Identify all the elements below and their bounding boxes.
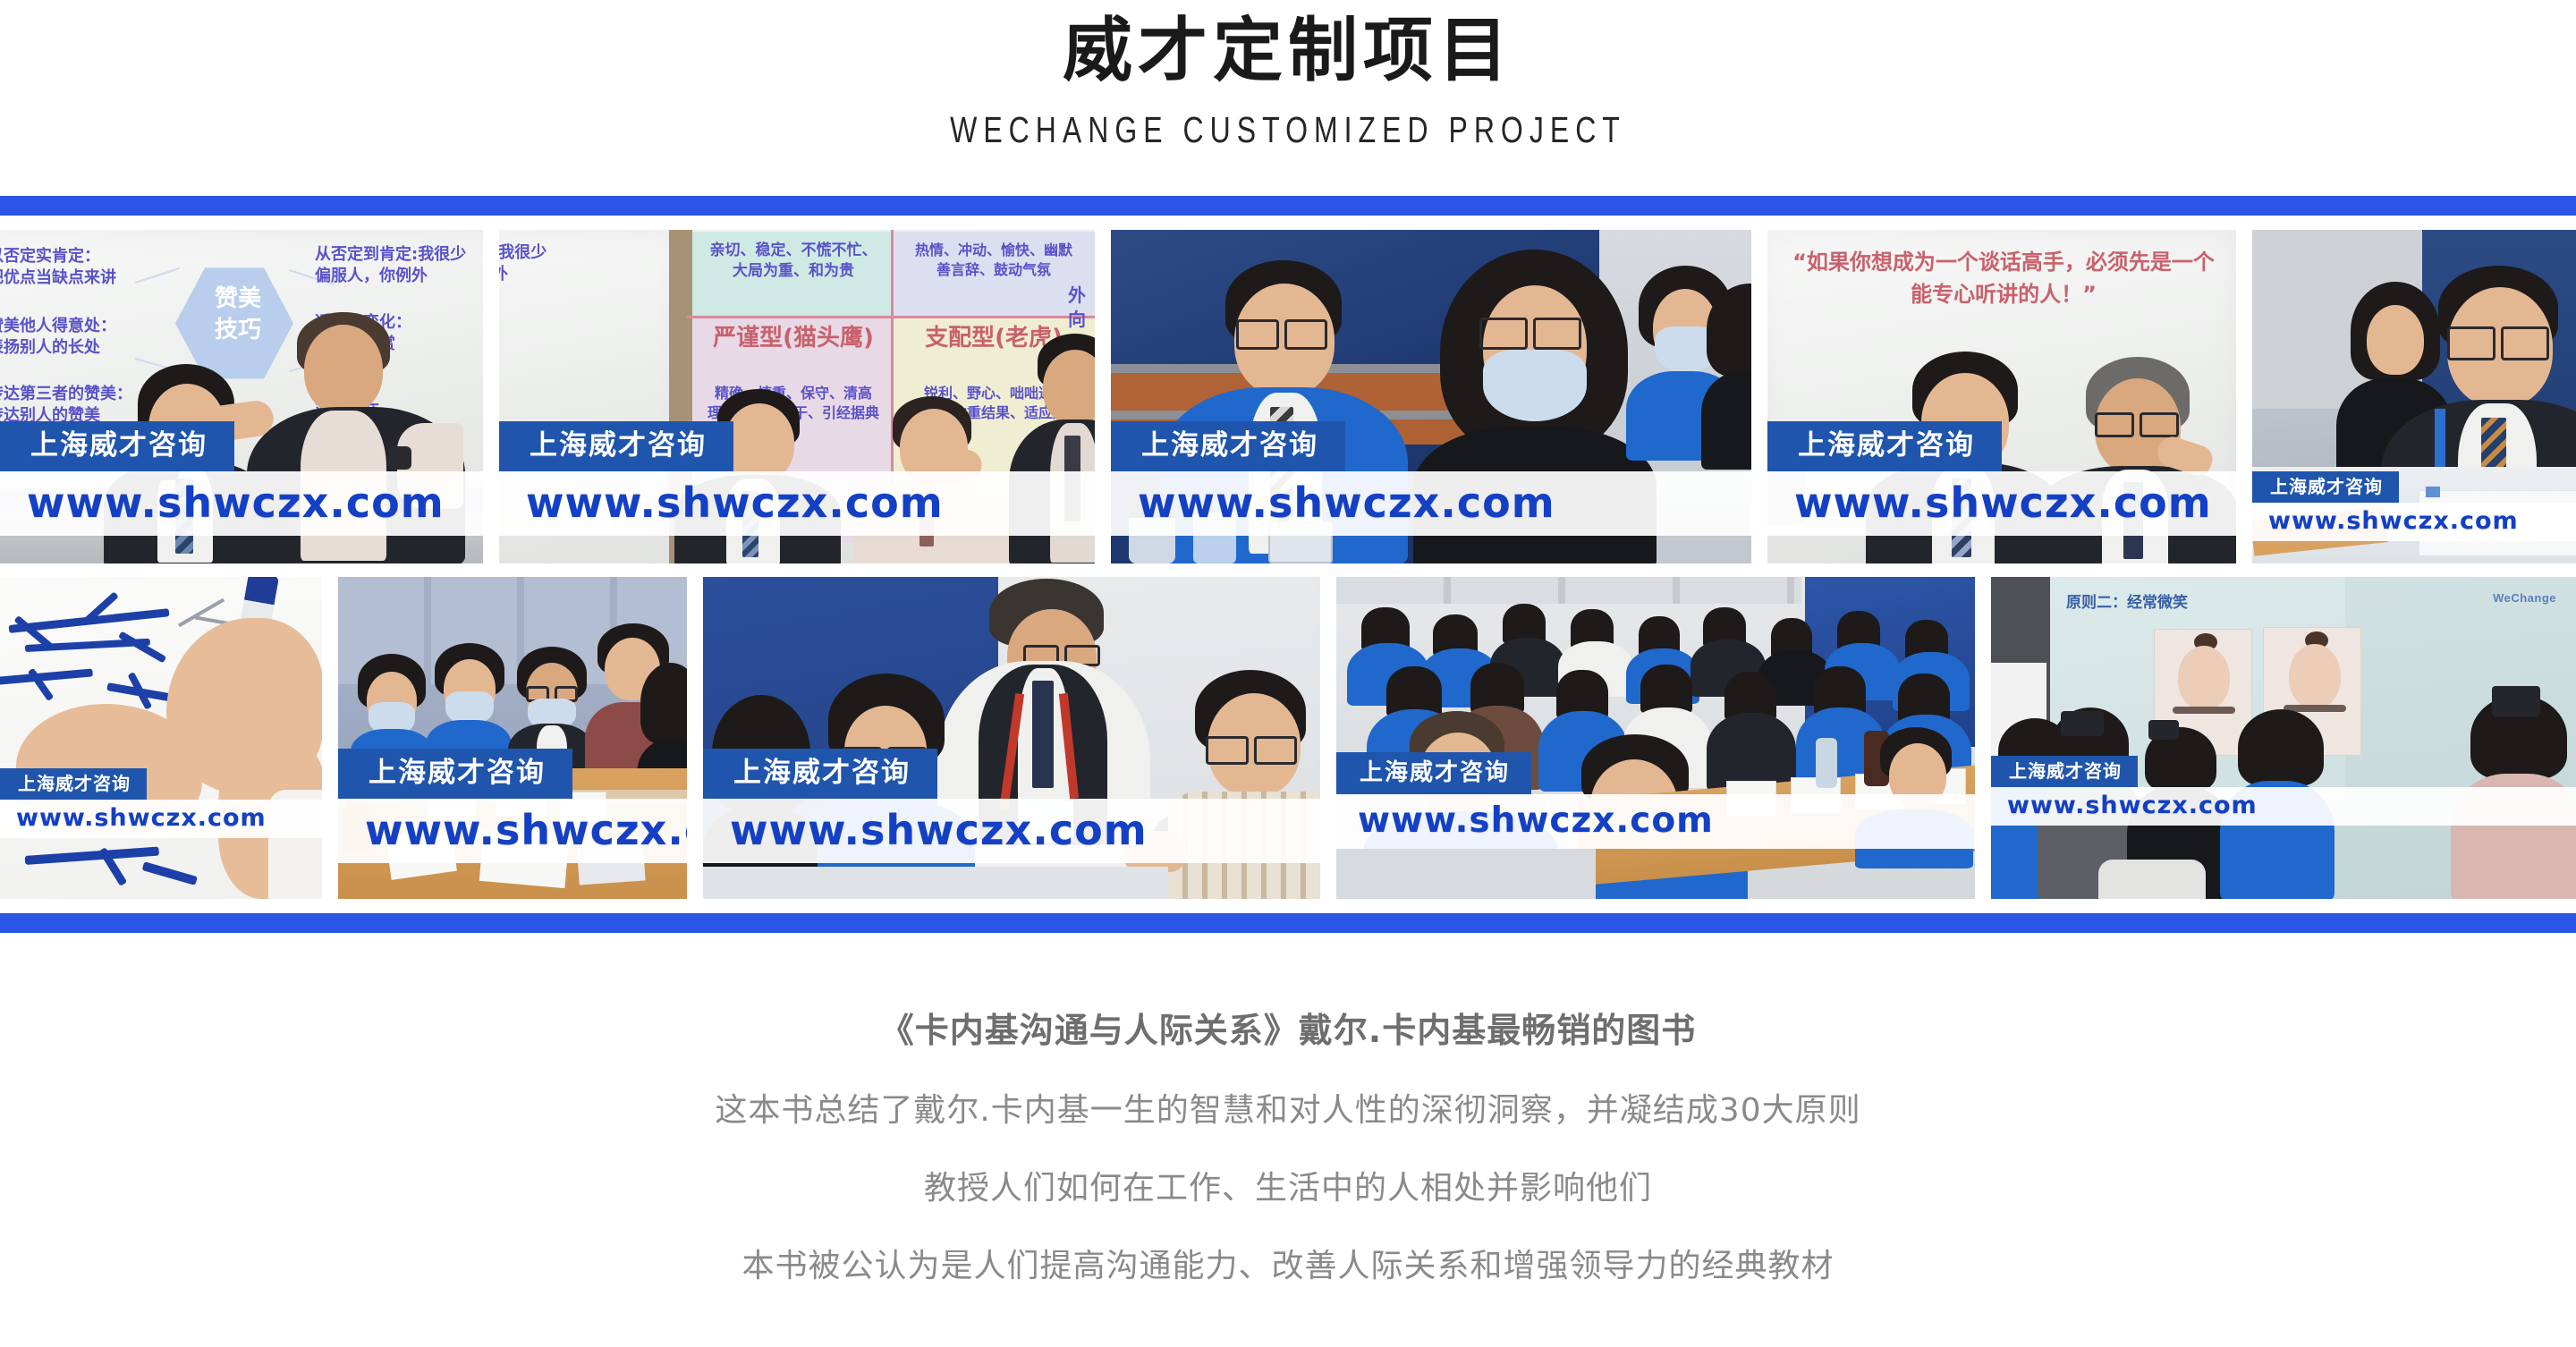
watermark: 上海威才咨询 www.shwczx.com	[1336, 752, 1975, 849]
slide-left-item-1: 以否定实肯定： 把优点当缺点来讲	[0, 246, 144, 289]
gallery-row-2: 上海威才咨询 www.shwczx.com	[0, 577, 2576, 899]
page-title: 威才定制项目	[0, 13, 2576, 90]
watermark-url: www.shwczx.com	[0, 471, 483, 536]
page-root: 威才定制项目 WECHANGE CUSTOMIZED PROJECT 赞美 技巧	[0, 0, 2576, 1347]
watermark-brand: 上海威才咨询	[2252, 471, 2399, 503]
slide-quadrant-top-right: 热情、冲动、愉快、幽默 善言辞、鼓动气氛	[896, 241, 1091, 278]
wechange-logo: WeChange	[2493, 591, 2556, 605]
watermark: 上海威才咨询 www.shwczx.com	[1767, 421, 2236, 536]
divider-bar-top	[0, 196, 2576, 216]
page-header: 威才定制项目 WECHANGE CUSTOMIZED PROJECT	[0, 0, 2576, 150]
watermark: 上海威才咨询 www.shwczx.com	[2252, 471, 2576, 541]
gallery-gap	[483, 230, 499, 563]
watermark-brand: 上海威才咨询	[0, 768, 147, 800]
gallery-gap	[1320, 577, 1336, 899]
slide-principle-title: 原则二：经常微笑	[2066, 593, 2263, 613]
slide-quadrant-label-left: 严谨型(猫头鹰)	[698, 323, 889, 353]
watermark: 上海威才咨询 www.shwczx.com	[0, 768, 322, 838]
watermark-brand: 上海威才咨询	[703, 749, 937, 799]
slide-left-fragment: 从否定到肯定:我很少 偏服人，你例外	[499, 242, 628, 285]
watermark-url: www.shwczx.com	[2252, 503, 2576, 541]
photo-gallery: 赞美 技巧 以否定实肯定： 把优点当缺点来讲 赞美他人得意处： 表扬别人的长处 …	[0, 230, 2576, 899]
watermark: 上海威才咨询 www.shwczx.com	[703, 749, 1320, 863]
gallery-gap	[1975, 577, 1991, 899]
watermark-brand: 上海威才咨询	[499, 421, 733, 471]
slide-quadrant-top-left: 亲切、稳定、不慌不忙、 大局为重、和为贵	[698, 241, 889, 281]
footer-line-2: 教授人们如何在工作、生活中的人相处并影响他们	[0, 1168, 2576, 1208]
gallery-gap	[1095, 230, 1111, 563]
gallery-gap	[1751, 230, 1767, 563]
watermark-brand: 上海威才咨询	[1111, 421, 1345, 471]
photo-participant-taking-notes[interactable]: 上海威才咨询 www.shwczx.com	[2252, 230, 2576, 563]
watermark-url: www.shwczx.com	[1111, 471, 1751, 536]
page-subtitle: WECHANGE CUSTOMIZED PROJECT	[284, 110, 2292, 150]
watermark-brand: 上海威才咨询	[338, 749, 572, 799]
watermark-url: www.shwczx.com	[499, 471, 1095, 536]
photo-audience-photographing-slide[interactable]: 原则二：经常微笑 WeChange	[1991, 577, 2576, 899]
watermark-url: www.shwczx.com	[0, 800, 322, 838]
photo-full-classroom-audience[interactable]: 上海威才咨询 www.shwczx.com	[1336, 577, 1975, 899]
watermark: 上海威才咨询 www.shwczx.com	[0, 421, 483, 536]
divider-bar-bottom	[0, 913, 2576, 933]
watermark-url: www.shwczx.com	[703, 799, 1320, 863]
photo-disc-personality-quadrant[interactable]: 从否定到肯定:我很少 偏服人，你例外 适当的变化： 细节的欣赏 亲切、稳定、不慌…	[499, 230, 1095, 563]
photo-group-discussion-table[interactable]: 上海威才咨询 www.shwczx.com	[338, 577, 687, 899]
photo-trainer-coaching-group[interactable]: 上海威才咨询 www.shwczx.com	[703, 577, 1320, 899]
gallery-gap	[687, 577, 703, 899]
watermark-brand: 上海威才咨询	[1767, 421, 2002, 471]
slide-left-fragment-2: 适当的变化： 细节的欣赏	[499, 316, 601, 359]
gallery-gap	[322, 577, 338, 899]
photo-trainer-quote-listening[interactable]: “如果你想成为一个谈话高手，必须先是一个 能专心听讲的人！”	[1767, 230, 2236, 563]
watermark-url: www.shwczx.com	[1336, 794, 1975, 849]
watermark: 上海威才咨询 www.shwczx.com	[499, 421, 1095, 536]
photo-handwriting-on-flipchart[interactable]: 上海威才咨询 www.shwczx.com	[0, 577, 322, 899]
photo-classroom-participants-listening[interactable]: 上海威才咨询 www.shwczx.com	[1111, 230, 1751, 563]
watermark-url: www.shwczx.com	[1767, 471, 2236, 536]
watermark-url: www.shwczx.com	[338, 799, 687, 863]
slide-left-item-2: 赞美他人得意处： 表扬别人的长处	[0, 316, 144, 359]
watermark: 上海威才咨询 www.shwczx.com	[338, 749, 687, 863]
photo-trainer-with-microphone[interactable]: 赞美 技巧 以否定实肯定： 把优点当缺点来讲 赞美他人得意处： 表扬别人的长处 …	[0, 230, 483, 563]
slide-right-item-1: 从否定到肯定:我很少 偏服人，你例外	[315, 244, 483, 287]
watermark-brand: 上海威才咨询	[1336, 752, 1531, 794]
watermark-brand: 上海威才咨询	[1991, 756, 2138, 787]
footer-text-block: 《卡内基沟通与人际关系》戴尔.卡内基最畅销的图书 这本书总结了戴尔.卡内基一生的…	[0, 933, 2576, 1286]
watermark: 上海威才咨询 www.shwczx.com	[1111, 421, 1751, 536]
watermark-brand: 上海威才咨询	[0, 421, 234, 471]
watermark-url: www.shwczx.com	[1991, 787, 2576, 826]
slide-quote: “如果你想成为一个谈话高手，必须先是一个 能专心听讲的人！”	[1780, 246, 2227, 310]
footer-line-3: 本书被公认为是人们提高沟通能力、改善人际关系和增强领导力的经典教材	[0, 1246, 2576, 1286]
footer-heading: 《卡内基沟通与人际关系》戴尔.卡内基最畅销的图书	[0, 1010, 2576, 1053]
gallery-row-1: 赞美 技巧 以否定实肯定： 把优点当缺点来讲 赞美他人得意处： 表扬别人的长处 …	[0, 230, 2576, 563]
gallery-gap	[2236, 230, 2252, 563]
footer-line-1: 这本书总结了戴尔.卡内基一生的智慧和对人性的深彻洞察，并凝结成30大原则	[0, 1090, 2576, 1131]
watermark: 上海威才咨询 www.shwczx.com	[1991, 756, 2576, 826]
slide-axis-right: 外 向	[1068, 284, 1093, 331]
